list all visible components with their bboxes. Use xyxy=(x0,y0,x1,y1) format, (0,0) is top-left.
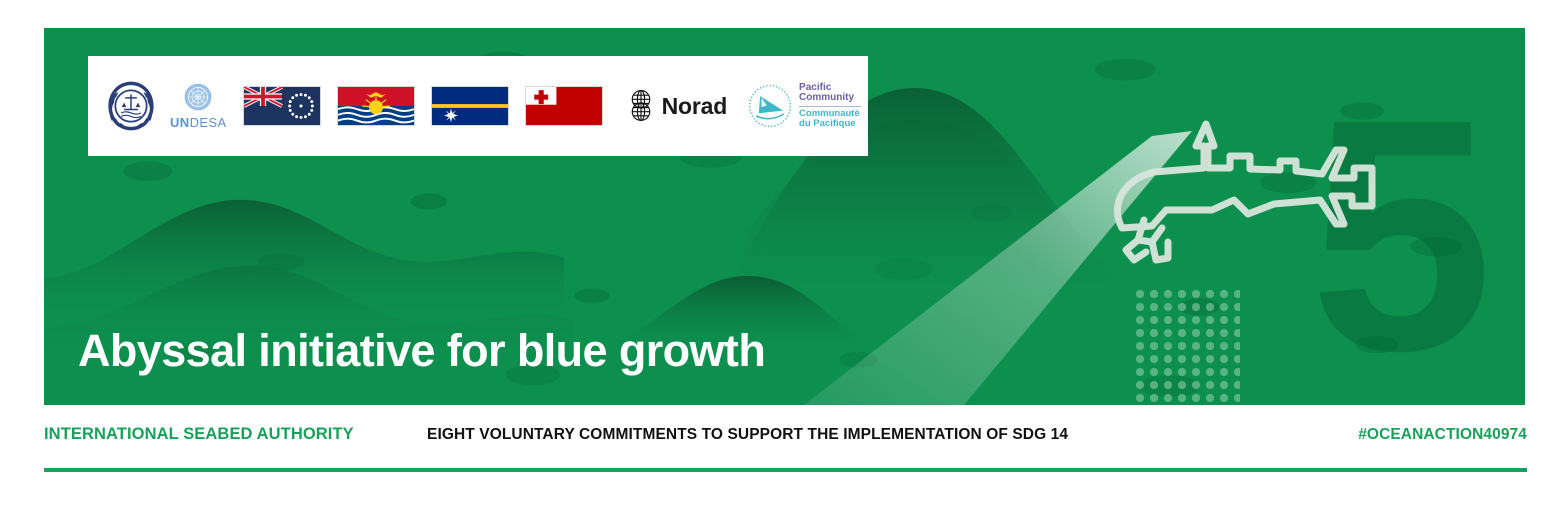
pacific-community-icon xyxy=(747,83,793,129)
flag-kiribati xyxy=(337,86,415,126)
footer-organization: INTERNATIONAL SEABED AUTHORITY xyxy=(44,425,354,444)
logo-slot-undesa: UNDESA xyxy=(160,82,227,130)
spc-divider xyxy=(799,106,861,107)
un-emblem-icon xyxy=(183,82,213,112)
logo-slot-norad: Norad xyxy=(603,88,727,124)
footer-statement: EIGHT VOLUNTARY COMMITMENTS TO SUPPORT T… xyxy=(427,426,1068,444)
flag-nauru xyxy=(431,86,509,126)
page-title: Abyssal initiative for blue growth xyxy=(78,325,765,377)
logo-slot-nauru xyxy=(415,86,509,126)
logo-slot-kiribati xyxy=(321,86,415,126)
footer-bar: INTERNATIONAL SEABED AUTHORITY EIGHT VOL… xyxy=(44,425,1527,455)
spc-label-en-2: Community xyxy=(799,93,861,104)
footer-rule xyxy=(44,468,1527,472)
logo-slot-pacific-community: Pacific Community Communauté du Pacifiqu… xyxy=(727,83,861,129)
footer-hashtag: #OCEANACTION40974 xyxy=(1358,426,1527,444)
page-root: 5 xyxy=(0,0,1568,508)
logo-slot-cook-islands xyxy=(227,86,321,126)
flag-tonga xyxy=(525,86,603,126)
international-seabed-authority-emblem xyxy=(102,77,160,135)
dot-grid-pattern xyxy=(1136,290,1240,405)
norad-wordmark: Norad xyxy=(662,93,727,120)
spc-label-fr-2: du Pacifique xyxy=(799,119,861,129)
un-desa-wordmark: UNDESA xyxy=(170,115,227,130)
norad-globe-icon xyxy=(625,88,657,124)
partner-logo-bar: UNDESA xyxy=(88,56,868,156)
logo-slot-isa xyxy=(102,77,160,135)
flag-cook-islands xyxy=(243,86,321,126)
logo-slot-tonga xyxy=(509,86,603,126)
